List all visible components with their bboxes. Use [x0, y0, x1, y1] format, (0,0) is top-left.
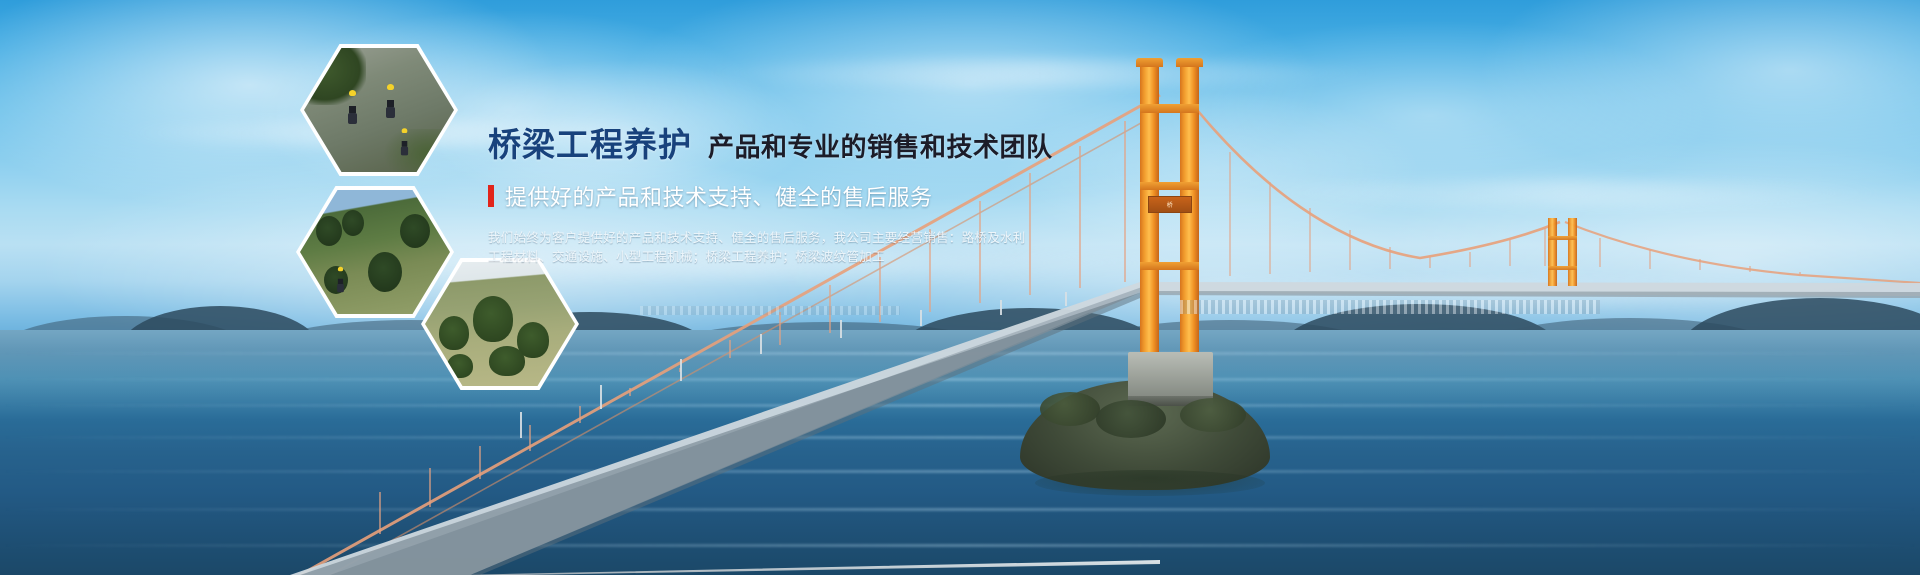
- headline-main: 桥梁工程养护: [488, 118, 692, 166]
- accent-bar-icon: [488, 185, 494, 207]
- bridge-deck: [0, 0, 1920, 575]
- subline-text: 提供好的产品和技术支持、健全的售后服务: [505, 180, 933, 212]
- banner-subline: 提供好的产品和技术支持、健全的售后服务: [488, 180, 1048, 212]
- banner-body: 我们始终为客户提供好的产品和技术支持、健全的售后服务，我公司主要经营销售：路桥及…: [488, 229, 1048, 267]
- bridge-tower-far: [1548, 218, 1557, 286]
- banner-headline: 桥梁工程养护 产品和专业的销售和技术团队: [488, 118, 1048, 166]
- photo-hex-3[interactable]: [421, 258, 579, 390]
- banner-text-block: 桥梁工程养护 产品和专业的销售和技术团队 提供好的产品和技术支持、健全的售后服务…: [488, 118, 1048, 267]
- body-line: 我们始终为客户提供好的产品和技术支持、健全的售后服务，我公司主要经营销售：路桥及…: [488, 229, 1048, 248]
- body-line: 工程材料、交通设施、小型工程机械；桥梁工程养护；桥梁波纹管加工: [488, 248, 1048, 267]
- hero-banner: 桥: [0, 0, 1920, 575]
- worker-figure: [401, 128, 408, 146]
- suspension-bridge: 桥: [0, 0, 1920, 575]
- worker-figure: [386, 84, 395, 106]
- bridge-tower-far: [1568, 218, 1577, 286]
- worker-figure: [348, 90, 357, 112]
- headline-sub: 产品和专业的销售和技术团队: [708, 127, 1053, 164]
- worker-figure: [337, 267, 344, 284]
- photo-hex-1[interactable]: [300, 44, 458, 176]
- far-coastline: [1180, 300, 1600, 314]
- tower-sign: 桥: [1148, 196, 1192, 213]
